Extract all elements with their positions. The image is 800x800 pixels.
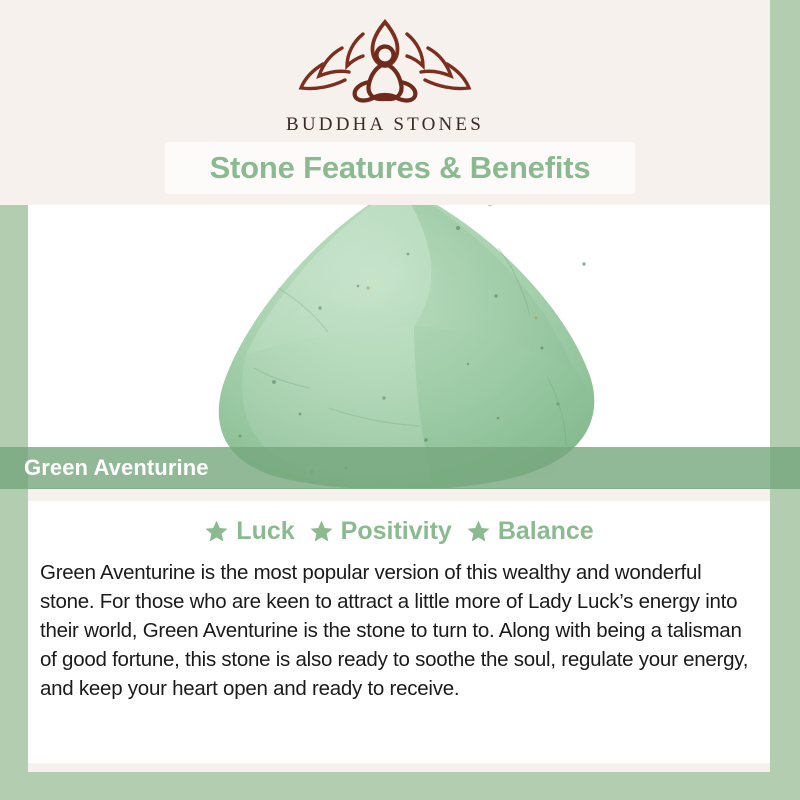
keyword-label: Positivity <box>341 517 452 546</box>
page-title: Stone Features & Benefits <box>210 150 591 186</box>
keyword-item-balance: Balance <box>466 517 594 546</box>
description-panel: Luck Positivity Balance Green Aventurine… <box>28 501 770 763</box>
brand-logo: BUDDHA STONES <box>0 14 770 136</box>
stone-photo <box>28 168 770 488</box>
keyword-label: Balance <box>498 517 594 546</box>
description-text: Green Aventurine is the most popular ver… <box>40 558 756 704</box>
bottom-cream-strip <box>28 763 770 772</box>
star-icon <box>204 519 229 544</box>
divider-strip <box>28 489 770 501</box>
green-aventurine-stone-image <box>28 168 770 488</box>
stone-name-label: Green Aventurine <box>24 455 209 481</box>
star-icon <box>466 519 491 544</box>
star-icon <box>309 519 334 544</box>
brand-name: BUDDHA STONES <box>286 114 484 136</box>
keyword-list: Luck Positivity Balance <box>28 517 770 546</box>
keyword-item-luck: Luck <box>204 517 294 546</box>
keyword-item-positivity: Positivity <box>309 517 452 546</box>
lotus-meditation-figure-icon <box>297 14 473 108</box>
keyword-label: Luck <box>236 517 294 546</box>
infographic-card: BUDDHA STONES <box>0 0 800 800</box>
stone-caption-bar: Green Aventurine <box>0 447 800 489</box>
title-banner: Stone Features & Benefits <box>165 142 635 194</box>
